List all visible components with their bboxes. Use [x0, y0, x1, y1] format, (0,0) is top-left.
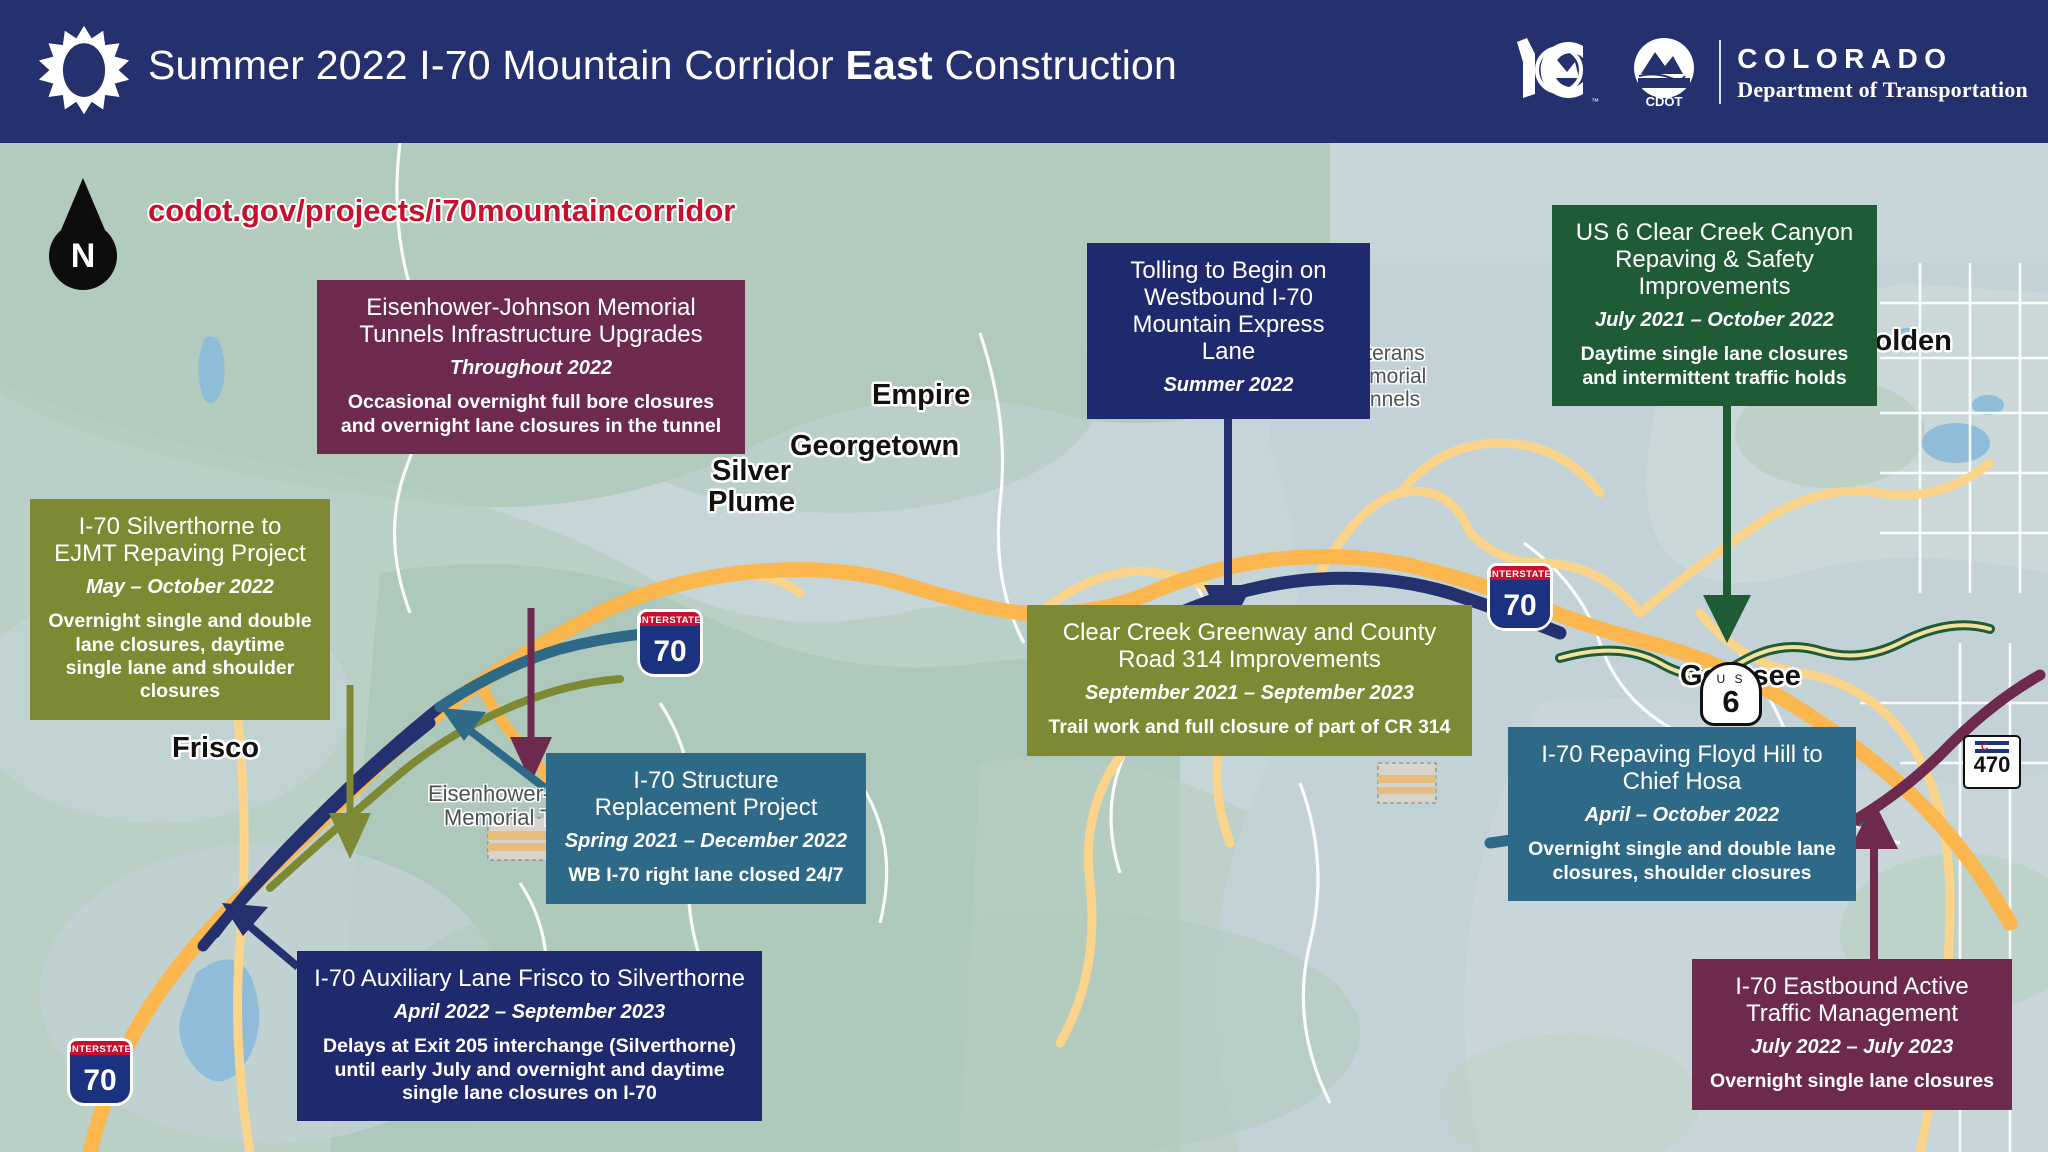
callout-auxiliary-lane[interactable]: I-70 Auxiliary Lane Frisco to Silverthor… [297, 951, 762, 1121]
shield-number-6: 6 [1703, 687, 1759, 716]
callout-us6-clear-creek-canyon[interactable]: US 6 Clear Creek Canyon Repaving & Safet… [1552, 205, 1877, 406]
callout-description: Occasional overnight full bore closures … [333, 391, 729, 438]
colorado-flag-icon: C [1975, 741, 2009, 753]
callout-dates: September 2021 – September 2023 [1043, 682, 1456, 705]
page-title-part1: Summer 2022 I-70 Mountain Corridor [148, 42, 845, 88]
callout-structure-replacement[interactable]: I-70 Structure Replacement Project Sprin… [546, 753, 866, 904]
i70-shield-idaho-springs: INTERSTATE 70 [1490, 566, 1550, 628]
shield-number-470: 470 [1965, 754, 2019, 776]
callout-description: Overnight single lane closures [1708, 1070, 1996, 1093]
callout-dates: Summer 2022 [1103, 374, 1354, 397]
page-title-emphasis: East [845, 42, 932, 88]
callout-title: Eisenhower-Johnson Memorial Tunnels Infr… [333, 294, 729, 348]
callout-description: WB I-70 right lane closed 24/7 [562, 864, 850, 887]
callout-dates: April 2022 – September 2023 [313, 1001, 746, 1024]
callout-title: I-70 Auxiliary Lane Frisco to Silverthor… [313, 965, 746, 992]
callout-title: Clear Creek Greenway and County Road 314… [1043, 619, 1456, 673]
map-canvas[interactable]: codot.gov/projects/i70mountaincorridor N… [0, 143, 2048, 1152]
callout-silverthorne-ejmt-repaving[interactable]: I-70 Silverthorne to EJMT Repaving Proje… [30, 499, 330, 720]
callout-title: Tolling to Begin on Westbound I-70 Mount… [1103, 257, 1354, 365]
callout-title: US 6 Clear Creek Canyon Repaving & Safet… [1568, 219, 1861, 300]
callout-dates: July 2022 – July 2023 [1708, 1036, 1996, 1059]
city-label-silver-plume: SilverPlume [708, 456, 795, 517]
sun-icon [36, 24, 132, 120]
callout-title: I-70 Repaving Floyd Hill to Chief Hosa [1524, 741, 1840, 795]
page-title: Summer 2022 I-70 Mountain Corridor East … [148, 42, 1177, 89]
colorado-c-logo-icon: ™ [1509, 32, 1619, 112]
page-title-part2: Construction [933, 42, 1177, 88]
callout-title: I-70 Structure Replacement Project [562, 767, 850, 821]
i70-shield-frisco: INTERSTATE 70 [70, 1041, 130, 1103]
city-label-empire: Empire [872, 380, 970, 411]
svg-text:™: ™ [1591, 97, 1599, 106]
callout-title: I-70 Eastbound Active Traffic Management [1708, 973, 1996, 1027]
callout-floyd-hill-chief-hosa[interactable]: I-70 Repaving Floyd Hill to Chief Hosa A… [1508, 727, 1856, 901]
callout-description: Delays at Exit 205 interchange (Silverth… [313, 1035, 746, 1105]
cdot-logo: ™ CDOT COLORADO Department of Transporta… [1509, 26, 2028, 118]
cdot-seal-label: CDOT [1646, 94, 1683, 109]
cdot-logo-wordmark: COLORADO Department of Transportation [1737, 41, 2028, 104]
city-label-frisco: Frisco [172, 733, 259, 764]
callout-dates: July 2021 – October 2022 [1568, 309, 1861, 332]
shield-number-70: 70 [640, 626, 700, 674]
callout-description: Trail work and full closure of part of C… [1043, 716, 1456, 739]
i70-construction-map-page: Summer 2022 I-70 Mountain Corridor East … [0, 0, 2048, 1152]
cdot-logo-marks: ™ CDOT [1509, 32, 1703, 112]
cdot-seal-icon: CDOT [1625, 32, 1703, 112]
callout-ejmt-infrastructure[interactable]: Eisenhower-Johnson Memorial Tunnels Infr… [317, 280, 745, 454]
shield-number-70: 70 [70, 1055, 130, 1103]
callout-tolling-express-lane[interactable]: Tolling to Begin on Westbound I-70 Mount… [1087, 243, 1370, 419]
shield-number-70: 70 [1490, 580, 1550, 628]
callout-dates: April – October 2022 [1524, 804, 1840, 827]
compass-north-label: N [49, 222, 117, 290]
page-header: Summer 2022 I-70 Mountain Corridor East … [0, 0, 2048, 143]
project-website-url[interactable]: codot.gov/projects/i70mountaincorridor [148, 193, 735, 229]
callout-description: Overnight single and double lane closure… [1524, 838, 1840, 885]
callout-clear-creek-greenway[interactable]: Clear Creek Greenway and County Road 314… [1027, 605, 1472, 756]
callout-dates: May – October 2022 [46, 576, 314, 599]
logo-line-colorado: COLORADO [1737, 41, 2028, 76]
callout-description: Overnight single and double lane closure… [46, 610, 314, 704]
compass-rose: N [45, 178, 121, 288]
callout-dates: Throughout 2022 [333, 357, 729, 380]
logo-divider [1719, 40, 1721, 104]
callout-description: Daytime single lane closures and intermi… [1568, 343, 1861, 390]
us6-shield: U S 6 [1700, 662, 1762, 726]
i70-shield-silver-plume: INTERSTATE 70 [640, 612, 700, 674]
city-label-georgetown: Georgetown [790, 431, 959, 462]
callout-title: I-70 Silverthorne to EJMT Repaving Proje… [46, 513, 314, 567]
callout-eastbound-atm[interactable]: I-70 Eastbound Active Traffic Management… [1692, 959, 2012, 1110]
logo-line-department: Department of Transportation [1737, 76, 2028, 104]
callout-dates: Spring 2021 – December 2022 [562, 830, 850, 853]
c470-shield: C 470 [1963, 735, 2021, 789]
veterans-tunnel-symbol [1378, 763, 1436, 803]
